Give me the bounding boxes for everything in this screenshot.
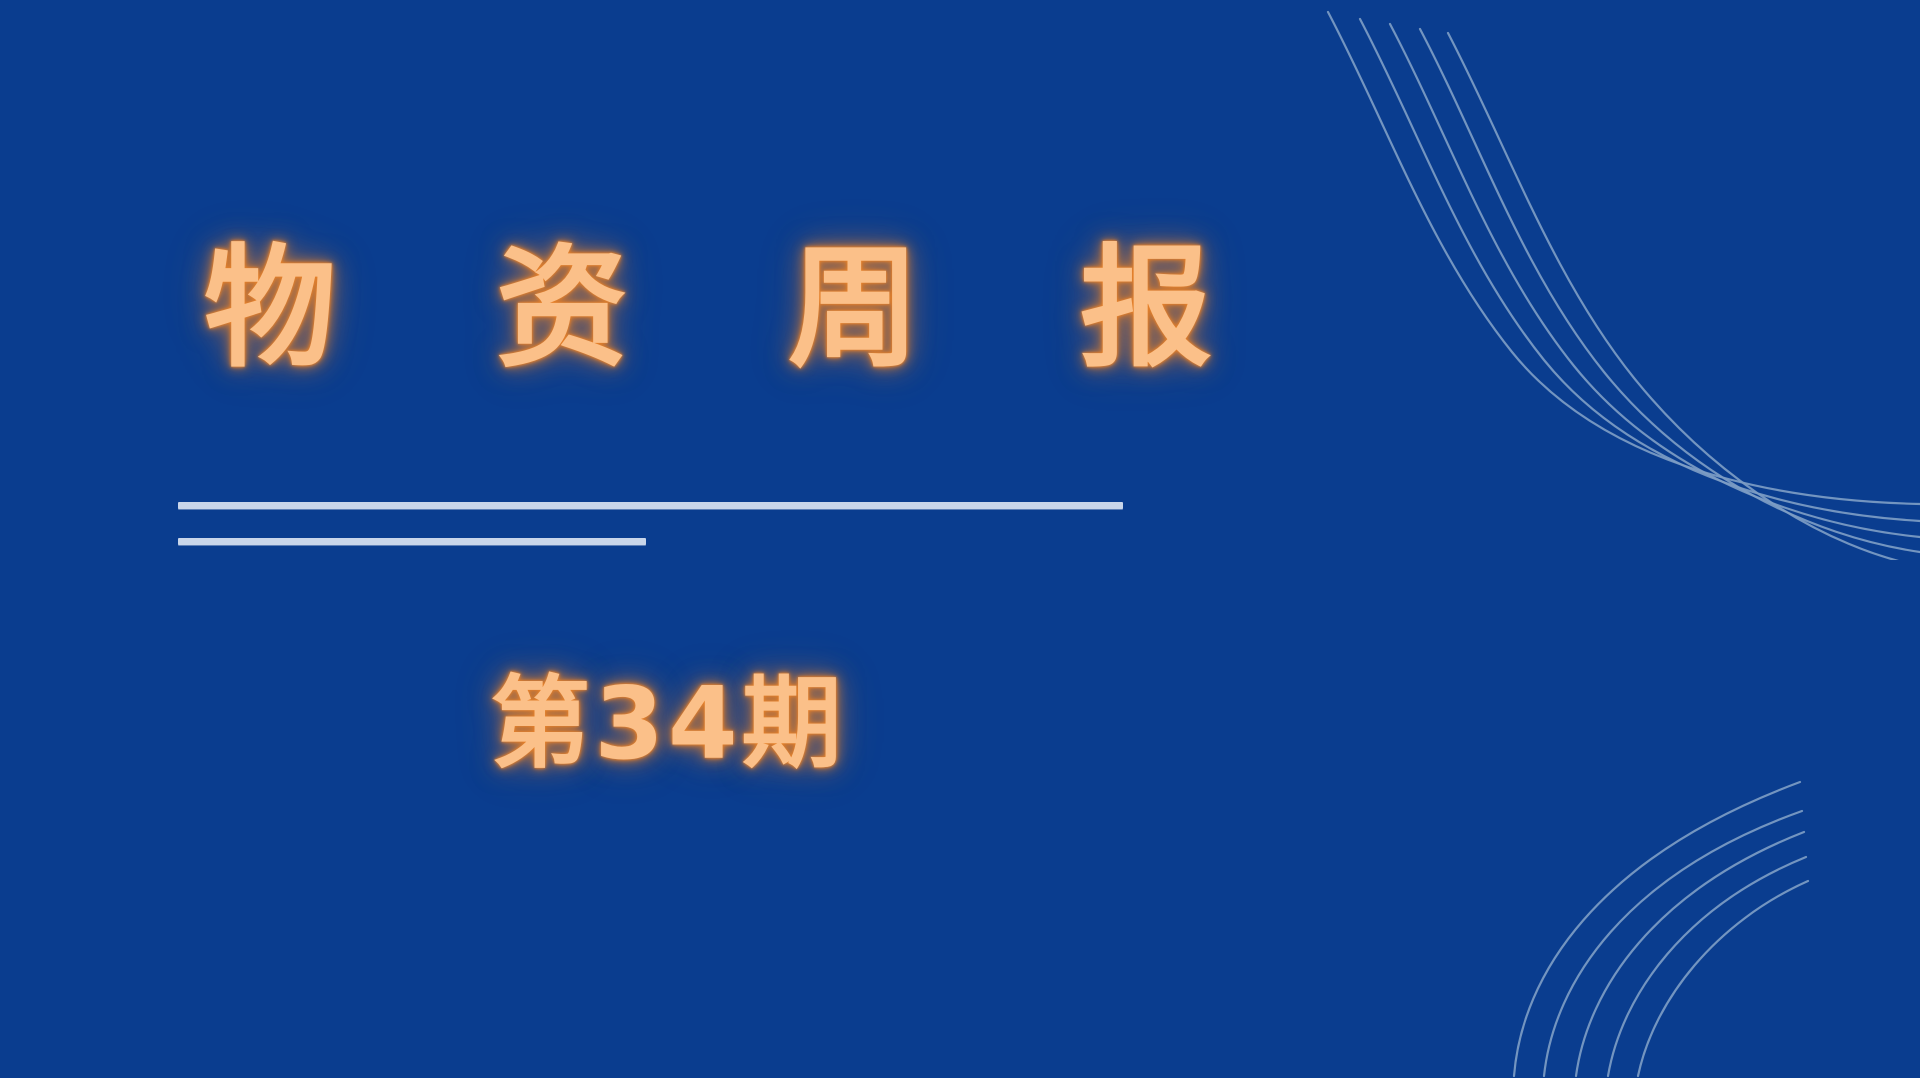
top-right-curve-decoration (1280, 0, 1920, 560)
title-block: 物 资 周 报 (178, 236, 1178, 384)
curve-line (1390, 24, 1920, 537)
curve-line (1360, 19, 1920, 521)
arc-line (1514, 782, 1800, 1076)
arc-line (1576, 832, 1804, 1076)
bottom-right-curve-decoration (1500, 738, 1920, 1078)
title-underline-long (178, 502, 1123, 509)
arc-line (1638, 881, 1808, 1076)
issue-subtitle: 第34期 (178, 642, 1158, 787)
page-title: 物 资 周 报 (178, 236, 1178, 384)
curve-line (1448, 33, 1920, 560)
arc-line (1608, 857, 1806, 1076)
arc-line (1544, 811, 1802, 1076)
title-underline-short (178, 538, 646, 545)
curve-line (1420, 29, 1920, 552)
curve-line (1328, 12, 1920, 504)
presentation-slide: 物 资 周 报 第34期 (0, 0, 1920, 1078)
